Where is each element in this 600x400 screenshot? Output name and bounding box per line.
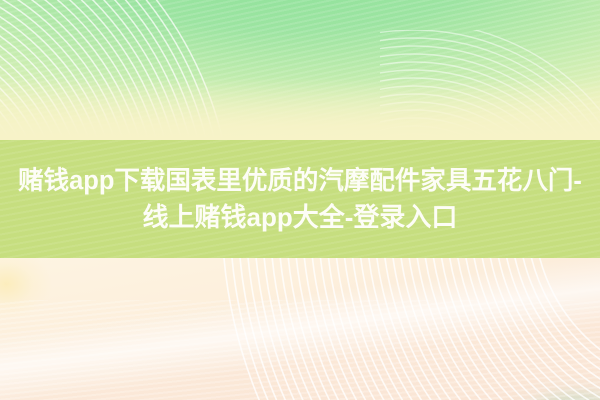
bottom-sheen-highlight — [0, 258, 600, 400]
bottom-left-warm-glow — [0, 258, 290, 398]
banner-top-gradient — [0, 0, 600, 140]
headline-line-1: 赌钱app下载国表里优质的汽摩配件家具五花八门- — [8, 163, 592, 199]
bottom-right-teal-accent — [360, 258, 600, 400]
bottom-hatch-texture — [0, 300, 600, 400]
banner-headline-band: 赌钱app下载国表里优质的汽摩配件家具五花八门- 线上赌钱app大全-登录入口 — [0, 140, 600, 258]
bottom-right-arc-decoration — [110, 258, 600, 400]
promo-banner: 赌钱app下载国表里优质的汽摩配件家具五花八门- 线上赌钱app大全-登录入口 — [0, 0, 600, 400]
banner-bottom-gradient — [0, 258, 600, 400]
top-fade-overlay — [0, 78, 600, 140]
banner-headline: 赌钱app下载国表里优质的汽摩配件家具五花八门- 线上赌钱app大全-登录入口 — [4, 163, 596, 235]
headline-line-2: 线上赌钱app大全-登录入口 — [8, 199, 592, 235]
